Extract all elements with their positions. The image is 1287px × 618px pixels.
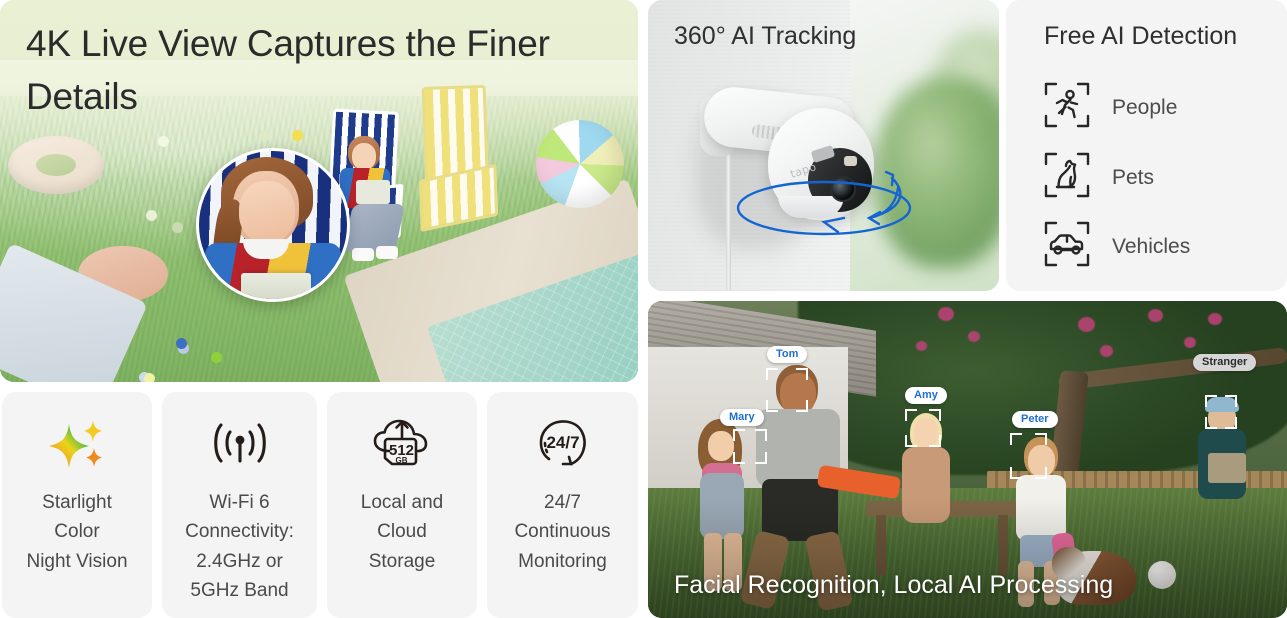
vehicles-detect-icon: [1044, 221, 1090, 272]
pool-ring-float: [8, 136, 104, 194]
pebble: [146, 210, 157, 221]
blossom: [1208, 313, 1222, 325]
feature-card-storage: 512 GB Local andCloudStorage: [327, 392, 477, 618]
detection-label: Vehicles: [1112, 235, 1190, 259]
face-box-peter: [1010, 433, 1047, 479]
hero-title: 4K Live View Captures the Finer Details: [26, 18, 586, 123]
face-tag-tom: Tom: [767, 346, 807, 363]
wifi-antenna-icon: [162, 414, 317, 476]
pebble: [259, 130, 270, 141]
feature-caption: StarlightColorNight Vision: [10, 488, 144, 576]
cloud-sdcard-512gb-icon: 512 GB: [327, 414, 477, 476]
blossom: [1148, 309, 1163, 322]
detection-row-pets: Pets: [1044, 152, 1154, 203]
detection-label: People: [1112, 96, 1177, 120]
face-tag-peter: Peter: [1012, 411, 1058, 428]
pebble: [172, 222, 183, 233]
detection-row-people: People: [1044, 82, 1177, 133]
24-7-badge-text: 24/7: [546, 433, 579, 452]
product-feature-collage: 4K Live View Captures the Finer Details …: [0, 0, 1287, 618]
zoom-detail-circle: [196, 148, 350, 302]
free-ai-detection-card: Free AI Detection People: [1006, 0, 1287, 291]
pebble: [211, 352, 222, 363]
hero-4k-live-view-card: 4K Live View Captures the Finer Details: [0, 0, 638, 382]
detection-label: Pets: [1112, 166, 1154, 190]
pebble: [158, 136, 169, 147]
face-box-amy: [905, 409, 941, 447]
pebble: [176, 338, 187, 349]
pets-detect-icon: [1044, 152, 1090, 203]
face-box-stranger: [1205, 395, 1237, 429]
feature-caption: Wi-Fi 6Connectivity:2.4GHz or5GHz Band: [170, 488, 309, 606]
facial-recognition-caption: Facial Recognition, Local AI Processing: [674, 571, 1113, 600]
starlight-sparkle-icon: [2, 414, 152, 476]
ai-tracking-title: 360° AI Tracking: [674, 22, 856, 51]
24-7-loop-icon: 24/7: [487, 414, 638, 476]
blossom: [938, 307, 954, 321]
pebble: [144, 373, 155, 382]
feature-card-wifi6: Wi-Fi 6Connectivity:2.4GHz or5GHz Band: [162, 392, 317, 618]
blossom: [1078, 317, 1095, 332]
feature-caption: 24/7ContinuousMonitoring: [495, 488, 630, 576]
ai-tracking-card: tapo 360° AI Tracking: [648, 0, 999, 291]
free-ai-detection-title: Free AI Detection: [1044, 22, 1237, 51]
blossom: [968, 331, 980, 342]
bottom-vignette: [648, 498, 1287, 618]
blossom: [1100, 345, 1113, 357]
face-tag-mary: Mary: [720, 409, 764, 426]
pebble: [292, 130, 303, 141]
feature-card-monitoring: 24/7 24/7ContinuousMonitoring: [487, 392, 638, 618]
blossom: [916, 341, 927, 351]
face-box-mary: [733, 429, 767, 464]
beach-ball: [536, 120, 624, 208]
people-detect-icon: [1044, 82, 1090, 133]
face-box-tom: [766, 368, 808, 412]
feature-card-starlight: StarlightColorNight Vision: [2, 392, 152, 618]
facial-recognition-card: Tom Mary Amy Peter Stranger Facial Recog…: [648, 301, 1287, 618]
face-tag-stranger: Stranger: [1193, 354, 1256, 371]
storage-unit-text: GB: [396, 456, 408, 465]
face-tag-amy: Amy: [905, 387, 947, 404]
detection-row-vehicles: Vehicles: [1044, 221, 1190, 272]
blossom: [1184, 337, 1196, 348]
feature-caption: Local andCloudStorage: [335, 488, 469, 576]
